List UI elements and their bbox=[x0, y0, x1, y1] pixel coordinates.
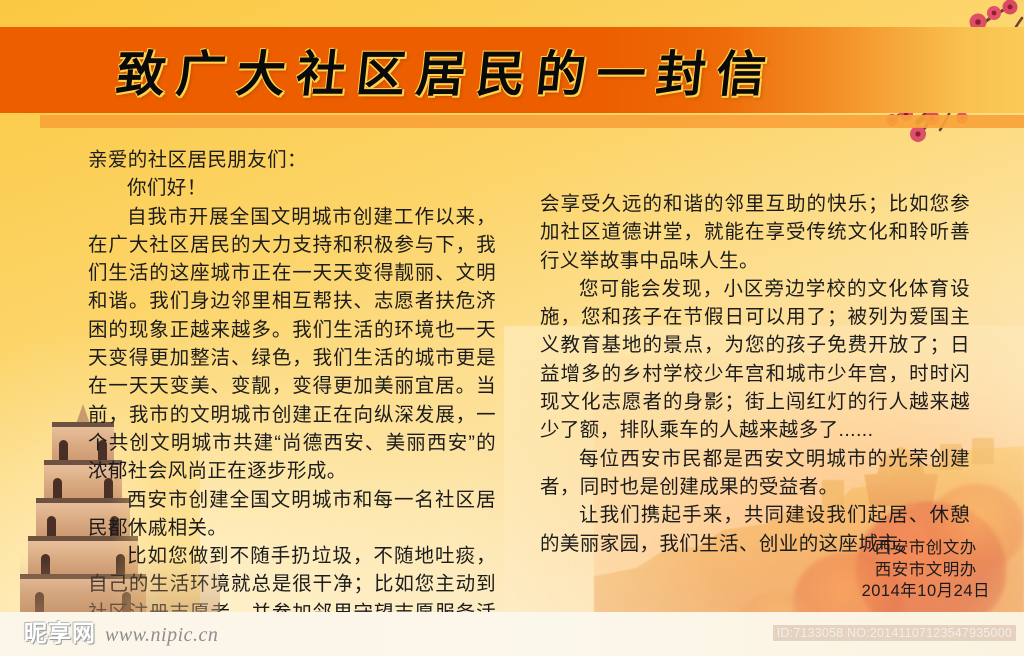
page-title: 致广大社区居民的一封信 bbox=[0, 27, 1024, 113]
signature-date: 2014年10月24日 bbox=[862, 581, 990, 603]
letter-paragraph: 每位西安市民都是西安文明城市的光荣创建者，同时也是创建成果的受益者。 bbox=[540, 445, 970, 502]
letter-greeting: 你们好！ bbox=[88, 174, 496, 202]
letter-paragraph: 自我市开展全国文明城市创建工作以来，在广大社区居民的大力支持和积极参与下，我们生… bbox=[88, 203, 496, 486]
signature-office-2: 西安市文明办 bbox=[862, 560, 990, 582]
watermark-url: www.nipic.cn bbox=[105, 624, 218, 647]
letter-paragraph: 您可能会发现，小区旁边学校的文化体育设施，您和孩子在节假日可以用了；被列为爱国主… bbox=[540, 275, 970, 445]
letter-paragraph: 会享受久远的和谐的邻里互助的快乐；比如您参加社区道德讲堂，就能在享受传统文化和聆… bbox=[540, 190, 970, 275]
wall-crenel bbox=[972, 438, 994, 464]
signature-block: 西安市创文办 西安市文明办 2014年10月24日 bbox=[862, 538, 990, 603]
banner-accent-strip bbox=[40, 115, 1024, 128]
letter-right-column: 会享受久远的和谐的邻里互助的快乐；比如您参加社区道德讲堂，就能在享受传统文化和聆… bbox=[540, 190, 970, 558]
watermark: 昵享网 www.nipic.cn bbox=[24, 614, 218, 648]
poster-canvas: 致广大社区居民的一封信 亲爱的社区居民朋友们： 你们好！ 自我市开展全国文明城市… bbox=[0, 0, 1024, 656]
image-id-tag: ID:7133058 NO:20141107123547935000 bbox=[773, 625, 1016, 641]
letter-salutation: 亲爱的社区居民朋友们： bbox=[88, 146, 496, 174]
signature-office-1: 西安市创文办 bbox=[862, 538, 990, 560]
letter-paragraph: 西安市创建全国文明城市和每一名社区居民都休戚相关。 bbox=[88, 486, 496, 543]
footer-pagoda-base bbox=[20, 554, 220, 612]
watermark-brand: 昵享网 bbox=[24, 614, 96, 648]
